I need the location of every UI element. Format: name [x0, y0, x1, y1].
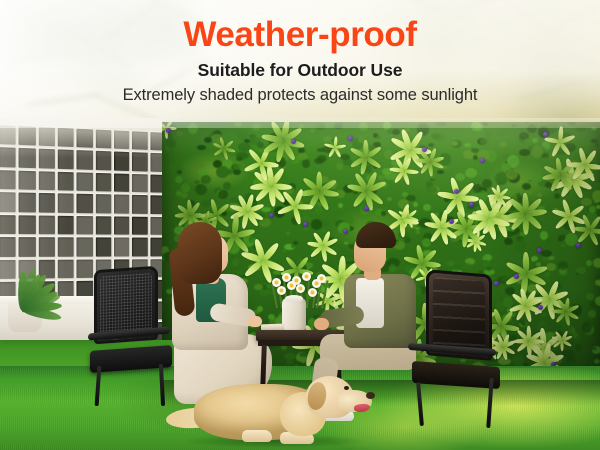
- flower-stem: [316, 285, 321, 308]
- daisy-flower: [317, 274, 326, 283]
- woman-hand: [248, 316, 262, 327]
- dog-paw: [242, 430, 272, 442]
- description: Extremely shaded protects against some s…: [0, 86, 600, 105]
- man-hand: [314, 318, 329, 330]
- daisy-flower: [308, 288, 317, 297]
- patio-chair-right: [414, 272, 506, 420]
- chair-leg: [416, 382, 424, 426]
- golden-retriever-dog: [168, 368, 378, 448]
- dog-eye: [344, 386, 349, 390]
- dog-nose: [366, 392, 375, 399]
- daisy-flower: [302, 272, 311, 281]
- dog-tongue: [354, 403, 371, 413]
- header-text-block: Weather-proof Suitable for Outdoor Use E…: [0, 0, 600, 120]
- chair-seat: [412, 361, 500, 389]
- product-feature-banner: Weather-proof Suitable for Outdoor Use E…: [0, 0, 600, 450]
- man-hair: [356, 222, 396, 248]
- daisy-flower: [277, 286, 286, 295]
- daisy-flower: [287, 281, 296, 290]
- daisy-flower: [296, 284, 305, 293]
- flower-vase: [282, 298, 306, 334]
- headline: Weather-proof: [0, 17, 600, 53]
- subheadline: Suitable for Outdoor Use: [0, 60, 600, 81]
- woman-hair: [178, 222, 222, 284]
